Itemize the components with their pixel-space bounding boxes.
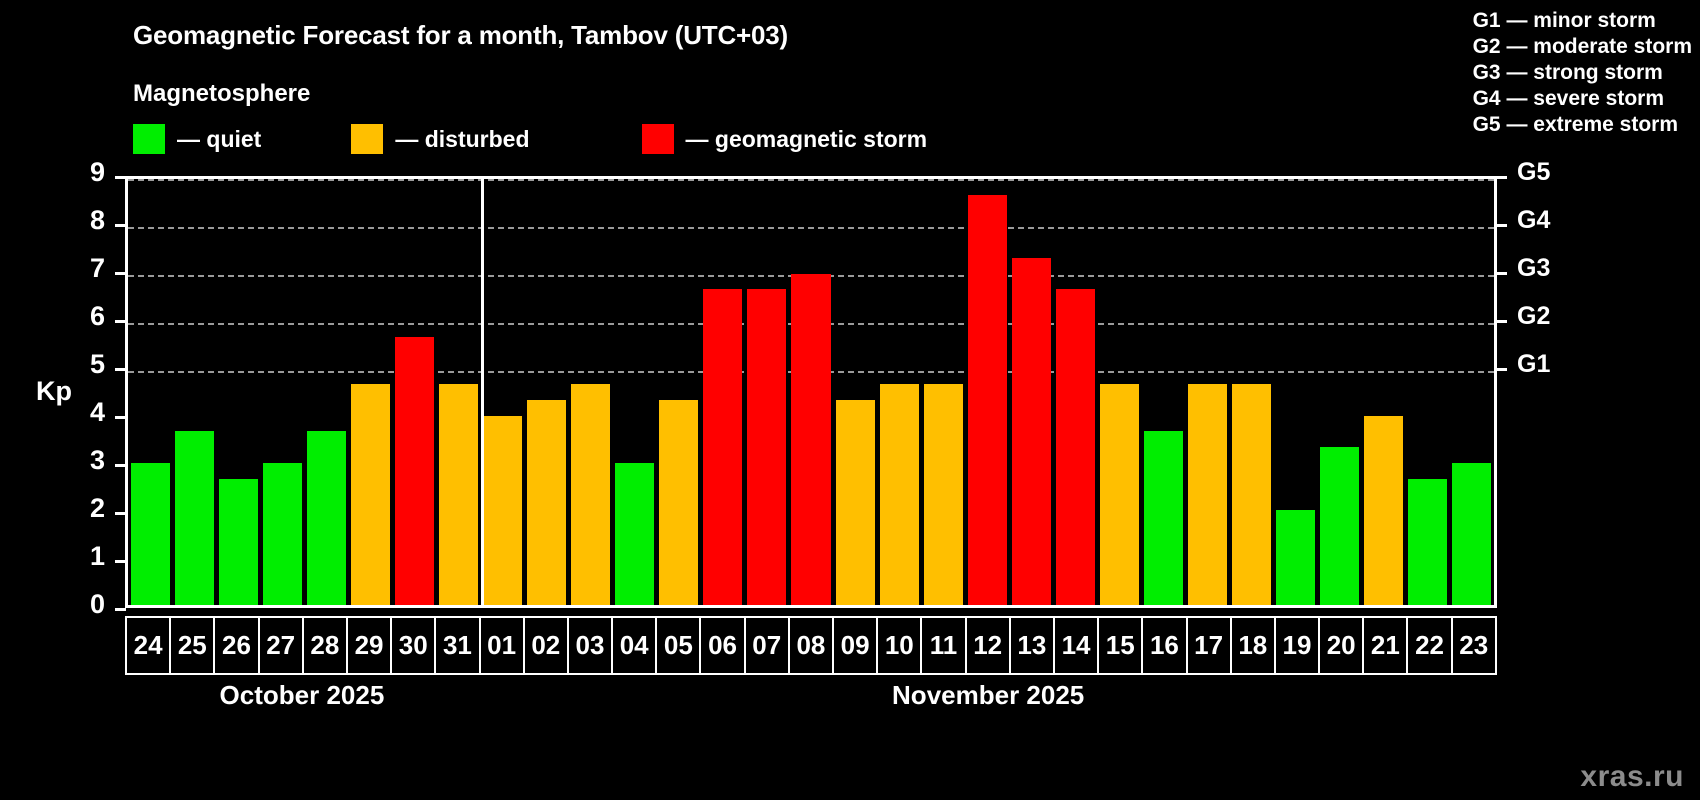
watermark: xras.ru (1580, 760, 1684, 794)
date-cell-02[interactable]: 02 (525, 618, 569, 673)
bar-cell-09[interactable] (833, 179, 877, 605)
bar-cell-04[interactable] (613, 179, 657, 605)
date-cell-11[interactable]: 11 (922, 618, 966, 673)
y-tick-label-2: 2 (65, 493, 105, 524)
g-tick-G3 (1496, 272, 1507, 275)
page-title: Geomagnetic Forecast for a month, Tambov… (133, 20, 788, 51)
bar-series (128, 179, 1494, 605)
bar-23[interactable] (1452, 463, 1491, 605)
g-tick-label-G3: G3 (1517, 254, 1550, 283)
geomagnetic-forecast-chart: Geomagnetic Forecast for a month, Tambov… (0, 0, 1700, 800)
chart-subtitle: Magnetosphere (133, 80, 310, 108)
date-cell-17[interactable]: 17 (1188, 618, 1232, 673)
date-cell-21[interactable]: 21 (1364, 618, 1408, 673)
bar-cell-16[interactable] (1141, 179, 1185, 605)
month-label-0: October 2025 (220, 680, 385, 711)
date-cell-03[interactable]: 03 (569, 618, 613, 673)
y-axis-title: Kp (36, 376, 72, 407)
bar-01[interactable] (483, 416, 522, 605)
y-tick-label-3: 3 (65, 445, 105, 476)
disturbed-swatch (351, 124, 383, 154)
date-cell-23[interactable]: 23 (1453, 618, 1495, 673)
bar-cell-30[interactable] (392, 179, 436, 605)
bar-30[interactable] (395, 337, 434, 605)
bar-cell-13[interactable] (1009, 179, 1053, 605)
storm-swatch (642, 124, 674, 154)
date-cell-29[interactable]: 29 (348, 618, 392, 673)
date-cell-14[interactable]: 14 (1055, 618, 1099, 673)
g-tick-G5 (1496, 176, 1507, 179)
date-cell-18[interactable]: 18 (1232, 618, 1276, 673)
date-cell-22[interactable]: 22 (1408, 618, 1452, 673)
bar-cell-29[interactable] (348, 179, 392, 605)
bar-06[interactable] (703, 289, 742, 605)
g-tick-label-G4: G4 (1517, 206, 1550, 235)
bar-26[interactable] (219, 479, 258, 605)
date-cell-31[interactable]: 31 (436, 618, 480, 673)
g-key-row-1: G1 — minor storm (1473, 8, 1692, 34)
g-scale-key: G1 — minor stormG2 — moderate stormG3 — … (1473, 8, 1692, 138)
y-tick-label-6: 6 (65, 301, 105, 332)
g-tick-label-G5: G5 (1517, 158, 1550, 187)
bar-cell-10[interactable] (877, 179, 921, 605)
g-tick-label-G1: G1 (1517, 350, 1550, 379)
bar-cell-02[interactable] (525, 179, 569, 605)
y-tick-label-8: 8 (65, 205, 105, 236)
legend-label-0: — quiet (177, 126, 261, 153)
bar-cell-07[interactable] (745, 179, 789, 605)
y-tick-label-0: 0 (65, 589, 105, 620)
g-key-row-4: G4 — severe storm (1473, 86, 1692, 112)
bar-cell-15[interactable] (1097, 179, 1141, 605)
g-key-row-2: G2 — moderate storm (1473, 34, 1692, 60)
bar-cell-14[interactable] (1053, 179, 1097, 605)
date-cell-27[interactable]: 27 (260, 618, 304, 673)
bar-cell-27[interactable] (260, 179, 304, 605)
bar-cell-19[interactable] (1274, 179, 1318, 605)
bar-19[interactable] (1276, 510, 1315, 605)
legend-label-2: — geomagnetic storm (686, 126, 928, 153)
g-key-row-5: G5 — extreme storm (1473, 112, 1692, 138)
bar-cell-21[interactable] (1362, 179, 1406, 605)
bar-09[interactable] (836, 400, 875, 605)
date-cell-19[interactable]: 19 (1276, 618, 1320, 673)
bar-cell-05[interactable] (657, 179, 701, 605)
date-cell-16[interactable]: 16 (1143, 618, 1187, 673)
g-tick-G1 (1496, 368, 1507, 371)
bar-cell-11[interactable] (921, 179, 965, 605)
quiet-swatch (133, 124, 165, 154)
bar-cell-08[interactable] (789, 179, 833, 605)
bar-cell-01[interactable] (481, 179, 525, 605)
date-cell-04[interactable]: 04 (613, 618, 657, 673)
bar-02[interactable] (527, 400, 566, 605)
date-cell-01[interactable]: 01 (481, 618, 525, 673)
month-label-1: November 2025 (892, 680, 1084, 711)
bar-24[interactable] (131, 463, 170, 605)
bar-29[interactable] (351, 384, 390, 605)
legend-item-0: — quiet (133, 123, 261, 155)
date-cell-24[interactable]: 24 (127, 618, 171, 673)
bar-cell-23[interactable] (1450, 179, 1494, 605)
plot-area (125, 176, 1497, 608)
date-axis-strip: 2425262728293031010203040506070809101112… (125, 616, 1497, 675)
bar-28[interactable] (307, 431, 346, 605)
date-cell-05[interactable]: 05 (657, 618, 701, 673)
bar-08[interactable] (791, 274, 830, 605)
date-cell-26[interactable]: 26 (215, 618, 259, 673)
date-cell-09[interactable]: 09 (834, 618, 878, 673)
bar-05[interactable] (659, 400, 698, 605)
date-cell-25[interactable]: 25 (171, 618, 215, 673)
date-cell-12[interactable]: 12 (967, 618, 1011, 673)
bar-cell-28[interactable] (304, 179, 348, 605)
bar-11[interactable] (924, 384, 963, 605)
bar-cell-25[interactable] (172, 179, 216, 605)
bar-cell-17[interactable] (1186, 179, 1230, 605)
bar-31[interactable] (439, 384, 478, 605)
bar-10[interactable] (880, 384, 919, 605)
date-cell-30[interactable]: 30 (392, 618, 436, 673)
bar-03[interactable] (571, 384, 610, 605)
y-tick-label-1: 1 (65, 541, 105, 572)
y-tick-label-9: 9 (65, 157, 105, 188)
bar-cell-22[interactable] (1406, 179, 1450, 605)
g-tick-G2 (1496, 320, 1507, 323)
date-cell-10[interactable]: 10 (878, 618, 922, 673)
bar-21[interactable] (1364, 416, 1403, 605)
bar-cell-18[interactable] (1230, 179, 1274, 605)
date-cell-08[interactable]: 08 (790, 618, 834, 673)
bar-07[interactable] (747, 289, 786, 605)
date-cell-07[interactable]: 07 (746, 618, 790, 673)
bar-16[interactable] (1144, 431, 1183, 605)
bar-cell-26[interactable] (216, 179, 260, 605)
bar-cell-20[interactable] (1318, 179, 1362, 605)
bar-15[interactable] (1100, 384, 1139, 605)
bar-12[interactable] (968, 195, 1007, 605)
legend-item-2: — geomagnetic storm (642, 123, 928, 155)
bar-cell-24[interactable] (128, 179, 172, 605)
y-tick-label-7: 7 (65, 253, 105, 284)
g-tick-label-G2: G2 (1517, 302, 1550, 331)
bar-14[interactable] (1056, 289, 1095, 605)
y-tick-0 (115, 608, 126, 611)
bar-20[interactable] (1320, 447, 1359, 605)
bar-04[interactable] (615, 463, 654, 605)
bar-cell-03[interactable] (569, 179, 613, 605)
bar-22[interactable] (1408, 479, 1447, 605)
bar-27[interactable] (263, 463, 302, 605)
g-key-row-3: G3 — strong storm (1473, 60, 1692, 86)
legend-item-1: — disturbed (351, 123, 529, 155)
date-cell-28[interactable]: 28 (304, 618, 348, 673)
legend-label-1: — disturbed (395, 126, 529, 153)
bar-cell-12[interactable] (965, 179, 1009, 605)
bar-13[interactable] (1012, 258, 1051, 605)
bar-25[interactable] (175, 431, 214, 605)
date-cell-06[interactable]: 06 (701, 618, 745, 673)
g-tick-G4 (1496, 224, 1507, 227)
date-cell-13[interactable]: 13 (1011, 618, 1055, 673)
legend: — quiet— disturbed— geomagnetic storm (133, 123, 927, 155)
month-divider (481, 179, 484, 605)
date-cell-15[interactable]: 15 (1099, 618, 1143, 673)
bar-17[interactable] (1188, 384, 1227, 605)
bar-18[interactable] (1232, 384, 1271, 605)
bar-cell-06[interactable] (701, 179, 745, 605)
date-cell-20[interactable]: 20 (1320, 618, 1364, 673)
bar-cell-31[interactable] (436, 179, 480, 605)
